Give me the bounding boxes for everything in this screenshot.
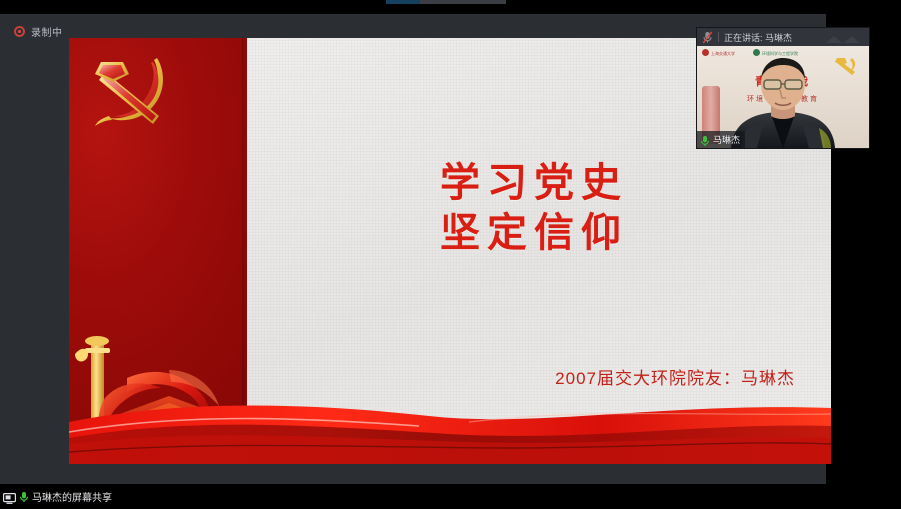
headline-line-2: 坚定信仰 [369, 208, 699, 258]
headline-line-1: 学习党史 [369, 158, 699, 208]
video-tile-header: 正在讲话: 马琳杰 [697, 28, 869, 46]
collapsed-toolbar-strip[interactable] [386, 0, 506, 4]
double-chevron-icon[interactable] [823, 32, 865, 43]
microphone-active-icon [19, 490, 29, 502]
video-tile-body: 上海交通大学 环境科学与工程学院 青春有我 环境学院主题教育 [697, 46, 869, 148]
recording-indicator[interactable]: 录制中 [8, 22, 69, 40]
speaking-label: 正在讲话: 马琳杰 [724, 31, 792, 44]
cpc-hammer-sickle-emblem-icon [83, 48, 179, 136]
status-bar-text: 马琳杰的屏幕共享 [32, 489, 112, 504]
header-divider [718, 32, 719, 42]
screen-share-icon [3, 491, 16, 502]
slide-headline: 学习党史 坚定信仰 [369, 158, 699, 258]
recording-label: 录制中 [31, 24, 63, 39]
toolbar-active-segment [386, 0, 420, 4]
microphone-active-icon [700, 134, 710, 146]
red-silk-wave-icon [69, 382, 831, 464]
video-tile-name: 马琳杰 [713, 133, 740, 146]
video-tile-name-badge: 马琳杰 [697, 131, 745, 148]
speaker-video-tile[interactable]: 正在讲话: 马琳杰 上海交通大学 环境科学与工程学院 [697, 28, 869, 148]
status-bar: 马琳杰的屏幕共享 [0, 485, 901, 507]
microphone-muted-icon [702, 31, 713, 44]
meeting-screen-share-window: 录制中 [0, 0, 901, 507]
record-dot-icon [14, 26, 25, 37]
